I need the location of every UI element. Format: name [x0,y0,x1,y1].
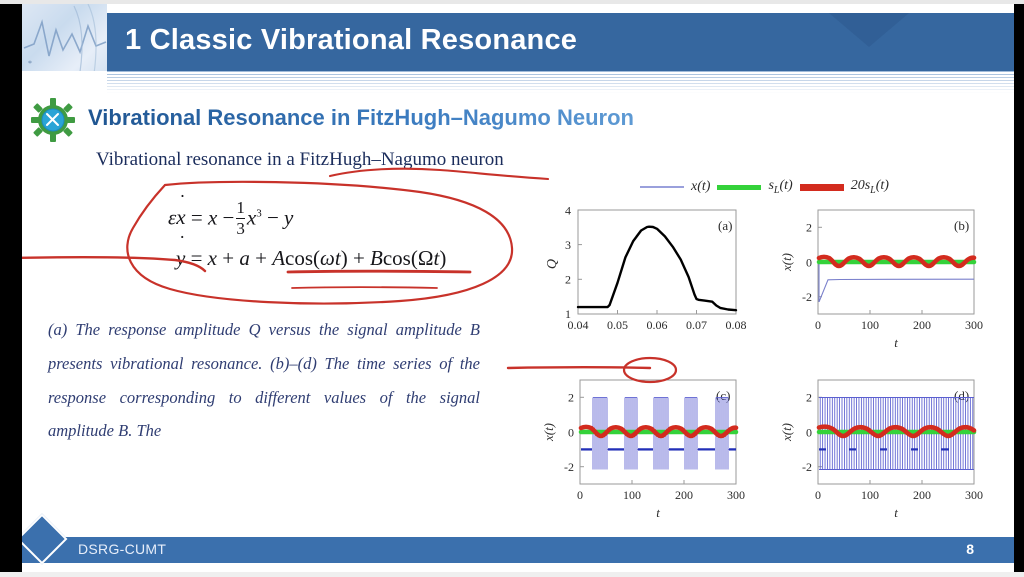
chart-d-svg: 0 100 200 300 -2 0 2 x(t) t (d) [778,372,988,520]
chart-a-xtick-3: 0.07 [686,318,707,332]
eq1-frac-numerator: 1 [236,199,245,217]
chart-b-xtick-2: 200 [913,318,931,332]
chart-c-xtick-2: 200 [675,488,693,502]
legend-swatch-sl [717,185,761,190]
capture-top-edge [0,0,1024,4]
chart-b-svg: 0 100 200 300 -2 0 2 x(t) t (b) [778,202,988,350]
chart-c-ytick-1: 0 [568,425,574,439]
chart-b-ytick-1: 0 [806,255,812,269]
svg-text:*: * [28,59,32,68]
chart-panel-c: 0 100 200 300 -2 0 2 x(t) t (c) [540,372,750,520]
chart-c-svg: 0 100 200 300 -2 0 2 x(t) t (c) [540,372,750,520]
eq2-term-a: a [239,246,250,270]
eq1-xdot: x [176,205,185,229]
eq1-minus-2: − [267,205,279,229]
chart-d-xtick-0: 0 [815,488,821,502]
chart-c-xtick-1: 100 [623,488,641,502]
chart-a-ytick-0: 1 [565,307,571,321]
eq1-fraction: 13 [236,199,245,238]
chart-a-ytick-2: 3 [565,238,571,252]
chart-d-xtick-2: 200 [913,488,931,502]
chevron-decoration [829,13,909,47]
legend-label-xt: x(t) [691,179,710,195]
figure-group: x(t) sL(t) 20sL(t) 0.04 [520,176,1015,556]
chart-a-xtick-4: 0.08 [726,318,747,332]
eq1-minus: − [223,205,235,229]
chart-b-xtick-1: 100 [861,318,879,332]
chart-b-xlabel: t [894,335,898,350]
chart-c-ytick-0: -2 [564,460,574,474]
eq1-term-x: x [208,205,217,229]
eq2-plus-1: + [222,246,234,270]
eq2-omega: ω [320,246,335,270]
eq2-plus-2: + [255,246,267,270]
section-heading: Vibrational Resonance in FitzHugh–Nagumo… [88,105,634,131]
chart-b-xtick-0: 0 [815,318,821,332]
chart-d-panel-label: (d) [954,388,969,403]
eq2-amplitude-A: A [272,246,285,270]
eq2-cos-1: cos( [285,246,320,270]
chart-a-xtick-2: 0.06 [647,318,668,332]
chart-a-xtick-1: 0.05 [607,318,628,332]
chart-c-ytick-2: 2 [568,391,574,405]
eq2-ydot: y [176,246,185,270]
eq2-Omega: Ω [418,246,434,270]
slide-title-bar: 1 Classic Vibrational Resonance [107,13,1014,71]
decorative-waveform-image: * [22,4,107,74]
page-number: 8 [966,541,974,557]
capture-bottom-edge [0,572,1024,577]
chart-b-ytick-0: -2 [802,290,812,304]
chart-d-xlabel: t [894,505,898,520]
eq1-exponent: 3 [256,207,262,219]
stripe-band-spacer [22,71,107,93]
eq1-term-y: y [284,205,293,229]
chart-panel-b: 0 100 200 300 -2 0 2 x(t) t (b) [778,202,988,350]
footer-organization: DSRG-CUMT [78,541,166,557]
stripe-band [107,71,1014,93]
chart-panel-a: 0.04 0.05 0.06 0.07 0.08 1 2 3 4 Q (a) [540,202,750,350]
chart-d-ylabel: x(t) [779,423,794,442]
underline-2-under-eq2 [292,287,437,288]
section-subtitle: Vibrational resonance in a FitzHugh–Nagu… [96,149,504,171]
eq1-equals: = [191,205,203,229]
chart-a-ylabel: Q [545,259,560,269]
legend-label-sl: sL(t) [768,178,792,196]
chart-a-panel-label: (a) [718,218,732,233]
eq1-frac-denominator: 3 [236,220,245,238]
slide: * 1 Classic Vibrational Resonance [0,0,1024,577]
chart-b-xtick-3: 300 [965,318,983,332]
chart-d-xtick-1: 100 [861,488,879,502]
chart-d-ytick-1: 0 [806,425,812,439]
legend-swatch-xt [640,186,684,188]
chart-b-ylabel: x(t) [779,253,794,272]
capture-right-edge [1014,0,1024,577]
eq1-term-xcubed: x [247,205,256,229]
eq2-plus-3: + [353,246,365,270]
chart-b-ytick-2: 2 [806,221,812,235]
equation-2: y = x + a + Acos(ωt) + Bcos(Ωt) [176,248,446,269]
chart-d-ytick-0: -2 [802,460,812,474]
gear-tools-icon [31,98,75,142]
equation-1: εx = x −13x3 − y [168,200,293,239]
legend-swatch-20sl [800,184,844,191]
footer-bar: DSRG-CUMT 8 [22,537,1014,563]
chart-c-xtick-0: 0 [577,488,583,502]
chart-a-ytick-3: 4 [565,204,571,218]
chart-a-svg: 0.04 0.05 0.06 0.07 0.08 1 2 3 4 Q (a) [540,202,750,350]
figure-legend: x(t) sL(t) 20sL(t) [640,176,889,198]
page-title: 1 Classic Vibrational Resonance [125,24,577,57]
chart-c-xtick-3: 300 [727,488,745,502]
capture-left-edge [0,0,22,577]
legend-label-20sl: 20sL(t) [851,178,889,196]
eq2-amplitude-B: B [370,246,383,270]
eq2-close-2: ) [439,246,446,270]
chart-c-ylabel: x(t) [541,423,556,442]
chart-d-xtick-3: 300 [965,488,983,502]
chart-b-panel-label: (b) [954,218,969,233]
eq2-equals: = [191,246,203,270]
chart-a-ytick-1: 2 [565,273,571,287]
eq2-close-1: ) [341,246,348,270]
eq2-cos-2: cos( [383,246,418,270]
chart-d-ytick-2: 2 [806,391,812,405]
figure-caption: (a) The response amplitude Q versus the … [48,313,480,448]
chart-c-xlabel: t [656,505,660,520]
underline-under-eq2 [288,271,470,272]
eq2-term-x: x [208,246,217,270]
chart-panel-d: 0 100 200 300 -2 0 2 x(t) t (d) [778,372,988,520]
